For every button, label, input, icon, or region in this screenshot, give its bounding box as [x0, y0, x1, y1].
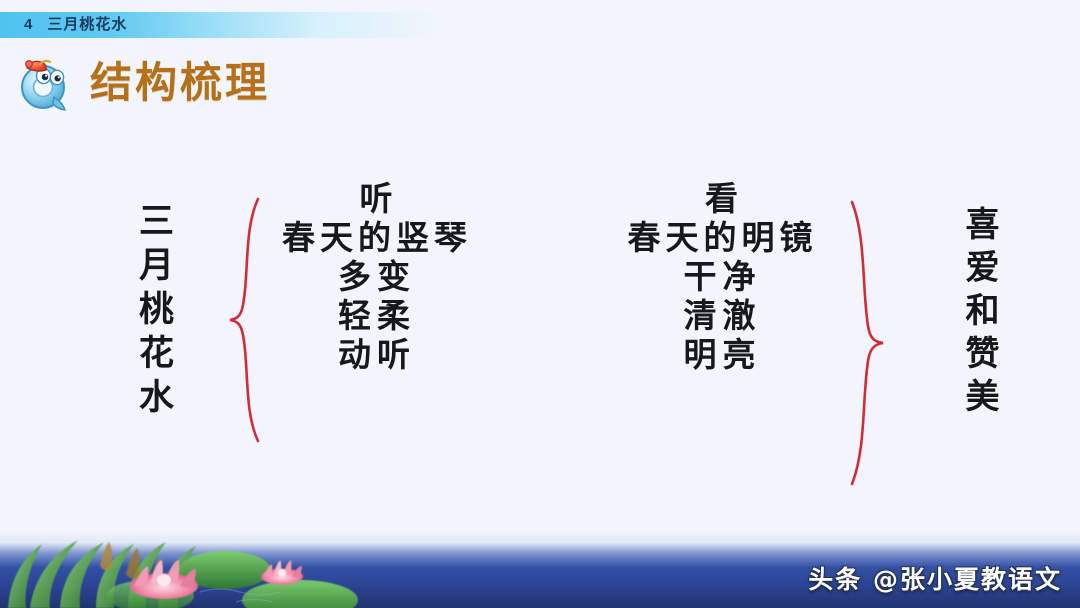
water-band: 头条 @张小夏教语文: [0, 530, 1080, 608]
lesson-number: 4: [24, 16, 33, 33]
branch-look-item-0: 干净: [600, 258, 845, 297]
slide-root: 4三月桃花水: [0, 0, 1080, 608]
page-title: 结构梳理: [90, 62, 270, 104]
watermark-text: 头条 @张小夏教语文: [808, 560, 1062, 596]
right-brace: [840, 198, 896, 493]
lotus-pond-decoration: [0, 530, 560, 608]
branch-listen-subject: 春天的竖琴: [262, 219, 492, 258]
breadcrumb: 4三月桃花水: [24, 12, 127, 38]
branch-look-item-2: 明亮: [600, 336, 845, 375]
diagram-topic: 三月桃花水: [128, 202, 179, 422]
branch-look-item-1: 清澈: [600, 297, 845, 336]
branch-look-subject: 春天的明镜: [600, 219, 845, 258]
branch-listen-item-0: 多变: [262, 258, 492, 297]
branch-look: 看 春天的明镜 干净 清澈 明亮: [600, 180, 845, 375]
branch-listen-item-2: 动听: [262, 336, 492, 375]
lesson-title: 三月桃花水: [47, 16, 127, 33]
mascot-q-icon: [14, 52, 76, 114]
branch-listen-head: 听: [262, 180, 492, 219]
section-title-row: 结构梳理: [14, 52, 270, 114]
diagram-conclusion: 喜爱和赞美: [955, 206, 1004, 421]
branch-look-head: 看: [600, 180, 845, 219]
structure-diagram: 三月桃花水 听 春天的竖琴 多变 轻柔 动听 看 春天的明镜 干净 清澈 明亮: [0, 150, 1080, 520]
branch-listen: 听 春天的竖琴 多变 轻柔 动听: [262, 180, 492, 375]
branch-listen-item-1: 轻柔: [262, 297, 492, 336]
